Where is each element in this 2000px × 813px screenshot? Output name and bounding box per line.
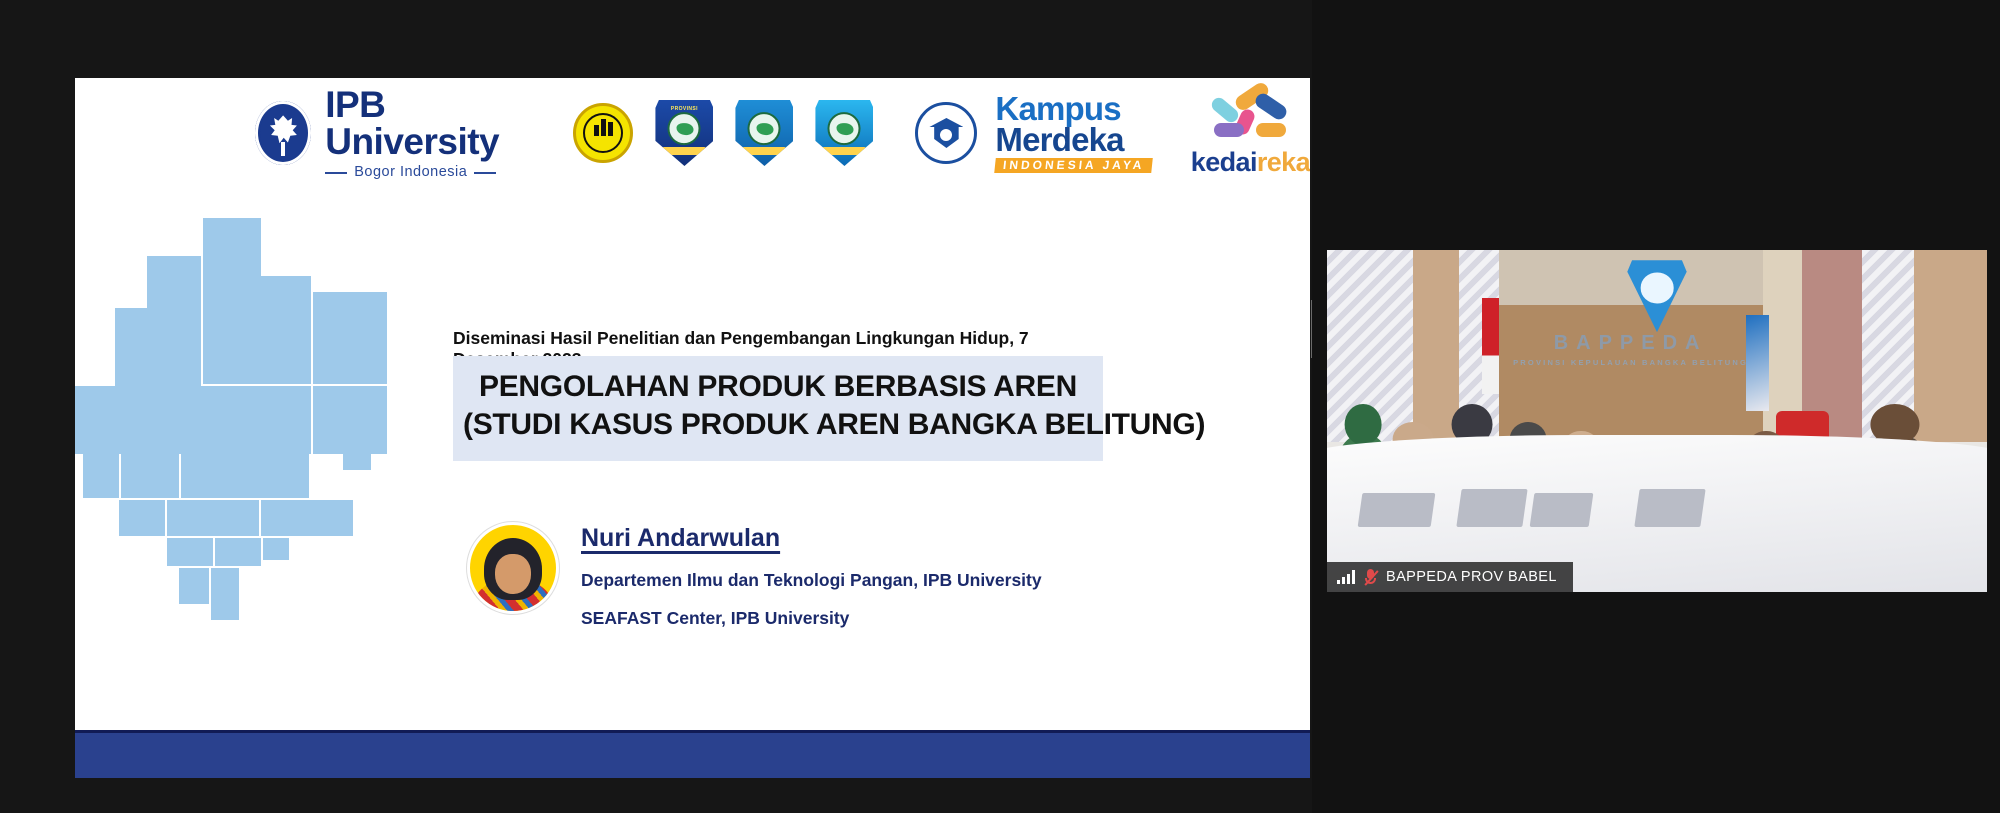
- laptop: [1456, 489, 1527, 527]
- screen-share-view: IPB University Bogor Indonesia: [0, 0, 2000, 813]
- seal-inner: [583, 113, 623, 153]
- ipb-tagline-text: Bogor Indonesia: [354, 165, 467, 180]
- kedaireka-mark-icon: [1204, 89, 1296, 143]
- shared-slide-pane: IPB University Bogor Indonesia: [0, 0, 1312, 813]
- collage-tile: [181, 454, 309, 498]
- slide-title-box: PENGOLAHAN PRODUK BERBASIS AREN (STUDI K…: [453, 356, 1103, 461]
- speaker-affiliation-2: SEAFAST Center, IPB University: [581, 608, 1042, 629]
- ipb-university-logo: IPB University Bogor Indonesia: [255, 86, 539, 180]
- kampus-merdeka-line1: Kampus: [995, 93, 1152, 124]
- ipb-wordmark: IPB University Bogor Indonesia: [325, 86, 539, 180]
- rule-right-icon: [474, 172, 496, 174]
- collage-tile: [83, 454, 119, 498]
- speaker-name: Nuri Andarwulan: [581, 524, 1042, 553]
- video-panel: BAPPEDA PROVINSI KEPULAUAN BANGKA BELITU…: [1312, 0, 2000, 813]
- collage-tile: [119, 500, 165, 536]
- collage-tile: [343, 454, 371, 470]
- collage-tile: [215, 538, 261, 566]
- slide-title-line1: PENGOLAHAN PRODUK BERBASIS AREN: [463, 368, 1093, 406]
- collage-tile: [313, 386, 387, 454]
- presentation-slide: IPB University Bogor Indonesia: [75, 78, 1310, 778]
- collage-tile: [203, 386, 311, 454]
- collage-tile: [179, 568, 209, 604]
- laptop: [1529, 493, 1593, 527]
- kedaireka-logo: kedaireka: [1191, 89, 1310, 178]
- kedaireka-part1: kedai: [1191, 147, 1257, 177]
- speaker-details: Nuri Andarwulan Departemen Ilmu dan Tekn…: [581, 516, 1042, 629]
- slide-title-line2: (STUDI KASUS PRODUK AREN BANGKA BELITUNG…: [463, 406, 1093, 444]
- collage-tile: [261, 500, 353, 536]
- wall-panel: [1413, 250, 1459, 442]
- participant-name: BAPPEDA PROV BABEL: [1386, 569, 1557, 585]
- speaker-affiliation-1: Departemen Ilmu dan Teknologi Pangan, IP…: [581, 570, 1042, 591]
- laptop: [1358, 493, 1435, 527]
- kampus-merdeka-line2: Merdeka: [995, 124, 1152, 155]
- speaker-avatar: [467, 522, 559, 614]
- collage-tile: [203, 218, 261, 276]
- kedaireka-part2: reka: [1257, 147, 1310, 177]
- shield-globe-icon: [828, 113, 861, 146]
- seal-bar: [608, 122, 613, 136]
- province-shield-icon: PROVINSI: [655, 100, 713, 166]
- microphone-muted-icon: [1364, 569, 1377, 586]
- collage-tile: [313, 292, 387, 384]
- speaker-block: Nuri Andarwulan Departemen Ilmu dan Tekn…: [467, 516, 1042, 629]
- laptop: [1635, 489, 1706, 527]
- seal-bar: [594, 125, 599, 136]
- universitas-djuanda-seal-icon: [573, 103, 633, 163]
- kedaireka-wordmark: kedaireka: [1191, 147, 1310, 178]
- campus-photo-collage: [75, 218, 395, 718]
- rule-left-icon: [325, 172, 347, 174]
- ipb-seal-icon: [255, 101, 311, 165]
- bangka-tengah-shield-icon: [735, 100, 793, 166]
- shield-ribbon-icon: [822, 147, 866, 155]
- kemdikbud-logo-icon: [915, 102, 977, 164]
- slide-footer-bar: [75, 730, 1310, 778]
- meeting-room-background: BAPPEDA PROVINSI KEPULAUAN BANGKA BELITU…: [1327, 250, 1987, 592]
- ipb-name: IPB University: [325, 86, 539, 160]
- kampus-merdeka-logo: Kampus Merdeka INDONESIA JAYA: [995, 93, 1152, 173]
- collage-tile: [115, 308, 201, 386]
- ipb-tagline: Bogor Indonesia: [325, 165, 539, 180]
- participant-video-tile[interactable]: BAPPEDA PROVINSI KEPULAUAN BANGKA BELITU…: [1327, 250, 1987, 592]
- indonesia-flag: [1482, 298, 1499, 394]
- shield-caption: PROVINSI: [655, 106, 713, 112]
- collage-tile: [75, 386, 203, 454]
- collage-tile: [121, 454, 179, 498]
- room-signage-title: BAPPEDA: [1554, 332, 1708, 354]
- signal-bars-icon: [1337, 570, 1355, 584]
- collage-tile: [211, 568, 239, 620]
- shield-globe-icon: [748, 113, 781, 146]
- participant-name-label: BAPPEDA PROV BABEL: [1327, 562, 1573, 592]
- shield-globe-icon: [668, 113, 701, 146]
- logo-strip: IPB University Bogor Indonesia: [75, 78, 1310, 188]
- collage-tile: [263, 538, 289, 560]
- seal-bar: [601, 119, 606, 136]
- back-wall: [1499, 305, 1763, 442]
- collage-tile: [147, 256, 201, 314]
- shield-ribbon-icon: [742, 147, 786, 155]
- room-signage-subtitle: PROVINSI KEPULAUAN BANGKA BELITUNG: [1505, 358, 1756, 367]
- shield-ribbon-icon: [662, 147, 706, 155]
- collage-tile: [203, 276, 311, 384]
- collage-tile: [167, 500, 259, 536]
- institution-flag: [1746, 315, 1768, 411]
- room-signage: BAPPEDA PROVINSI KEPULAUAN BANGKA BELITU…: [1505, 332, 1756, 367]
- kampus-merdeka-line3: INDONESIA JAYA: [995, 158, 1154, 173]
- wall-panel: [1914, 250, 1987, 442]
- collage-tile: [167, 538, 213, 566]
- bangka-barat-shield-icon: [815, 100, 873, 166]
- avatar-head: [484, 538, 542, 600]
